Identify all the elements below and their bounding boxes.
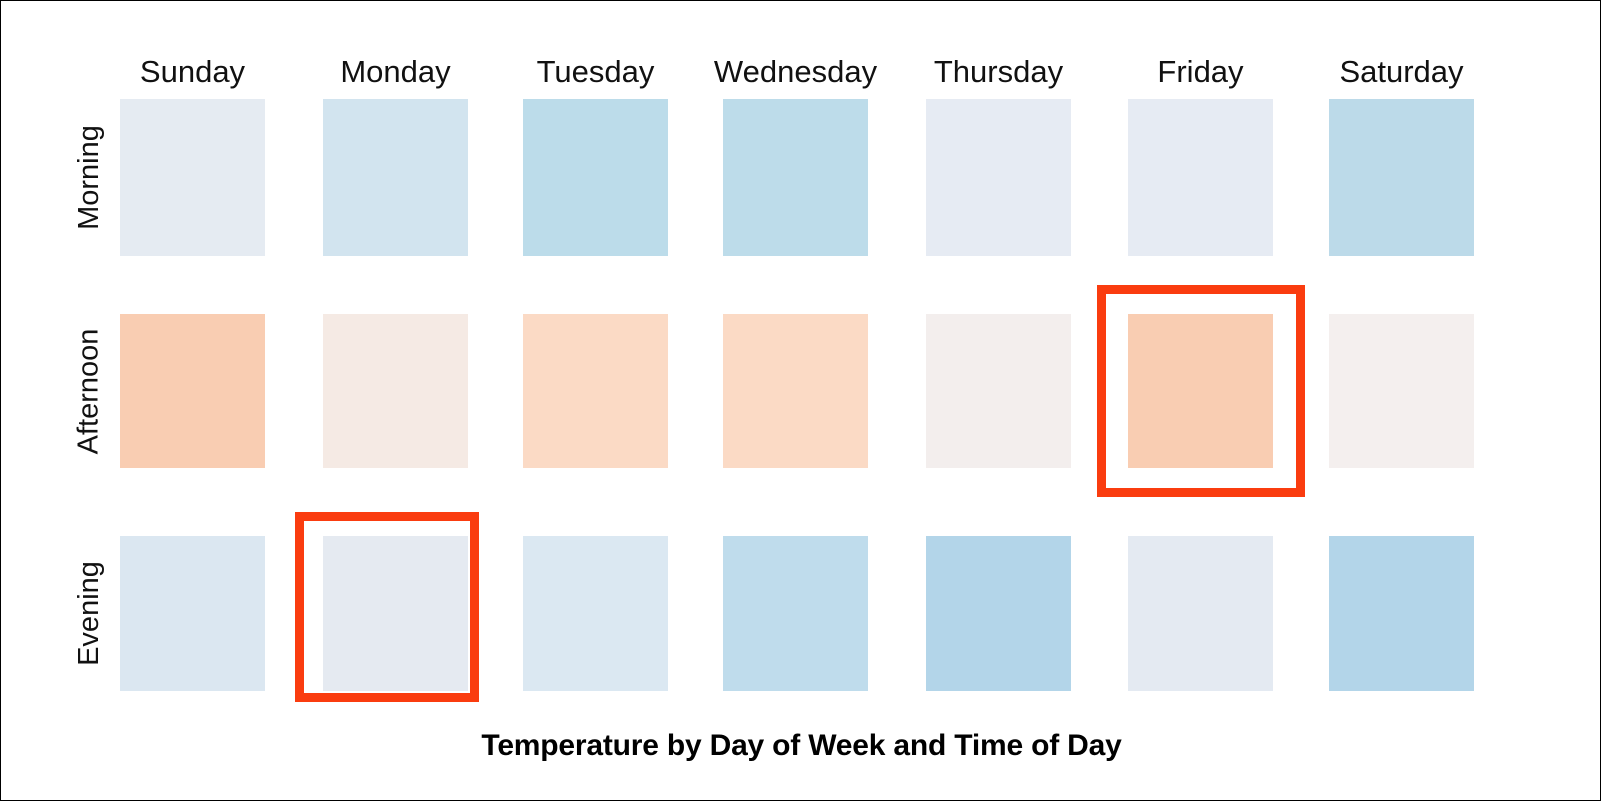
heatmap-cell-evening-tuesday[interactable]	[523, 536, 668, 691]
column-header-wednesday: Wednesday	[693, 51, 898, 93]
heatmap-cell-morning-wednesday[interactable]	[723, 99, 868, 256]
heatmap-cell-morning-saturday[interactable]	[1329, 99, 1474, 256]
heatmap-cell-evening-wednesday[interactable]	[723, 536, 868, 691]
heatmap-cell-morning-friday[interactable]	[1128, 99, 1273, 256]
heatmap-cell-afternoon-wednesday[interactable]	[723, 314, 868, 468]
heatmap-cell-evening-saturday[interactable]	[1329, 536, 1474, 691]
heatmap-cell-afternoon-monday[interactable]	[323, 314, 468, 468]
column-header-saturday: Saturday	[1299, 51, 1504, 93]
heatmap-cell-afternoon-sunday[interactable]	[120, 314, 265, 468]
column-header-monday: Monday	[293, 51, 498, 93]
heatmap-cell-morning-sunday[interactable]	[120, 99, 265, 256]
column-header-friday: Friday	[1098, 51, 1303, 93]
heatmap-cell-morning-tuesday[interactable]	[523, 99, 668, 256]
column-header-thursday: Thursday	[896, 51, 1101, 93]
column-header-tuesday: Tuesday	[493, 51, 698, 93]
heatmap-cell-afternoon-thursday[interactable]	[926, 314, 1071, 468]
row-label-text: Afternoon	[72, 328, 105, 454]
heatmap-cell-evening-sunday[interactable]	[120, 536, 265, 691]
heatmap-cell-afternoon-friday[interactable]	[1128, 314, 1273, 468]
heatmap-cell-afternoon-tuesday[interactable]	[523, 314, 668, 468]
chart-title: Temperature by Day of Week and Time of D…	[1, 729, 1601, 763]
heatmap-figure: SundayMondayTuesdayWednesdayThursdayFrid…	[0, 0, 1601, 801]
heatmap-cell-evening-monday[interactable]	[323, 536, 468, 691]
heatmap-cell-morning-thursday[interactable]	[926, 99, 1071, 256]
row-label-text: Evening	[73, 561, 106, 666]
row-label-text: Morning	[73, 125, 106, 230]
column-header-sunday: Sunday	[90, 51, 295, 93]
heatmap-cell-evening-friday[interactable]	[1128, 536, 1273, 691]
heatmap-cell-afternoon-saturday[interactable]	[1329, 314, 1474, 468]
heatmap-cell-evening-thursday[interactable]	[926, 536, 1071, 691]
heatmap-cell-morning-monday[interactable]	[323, 99, 468, 256]
